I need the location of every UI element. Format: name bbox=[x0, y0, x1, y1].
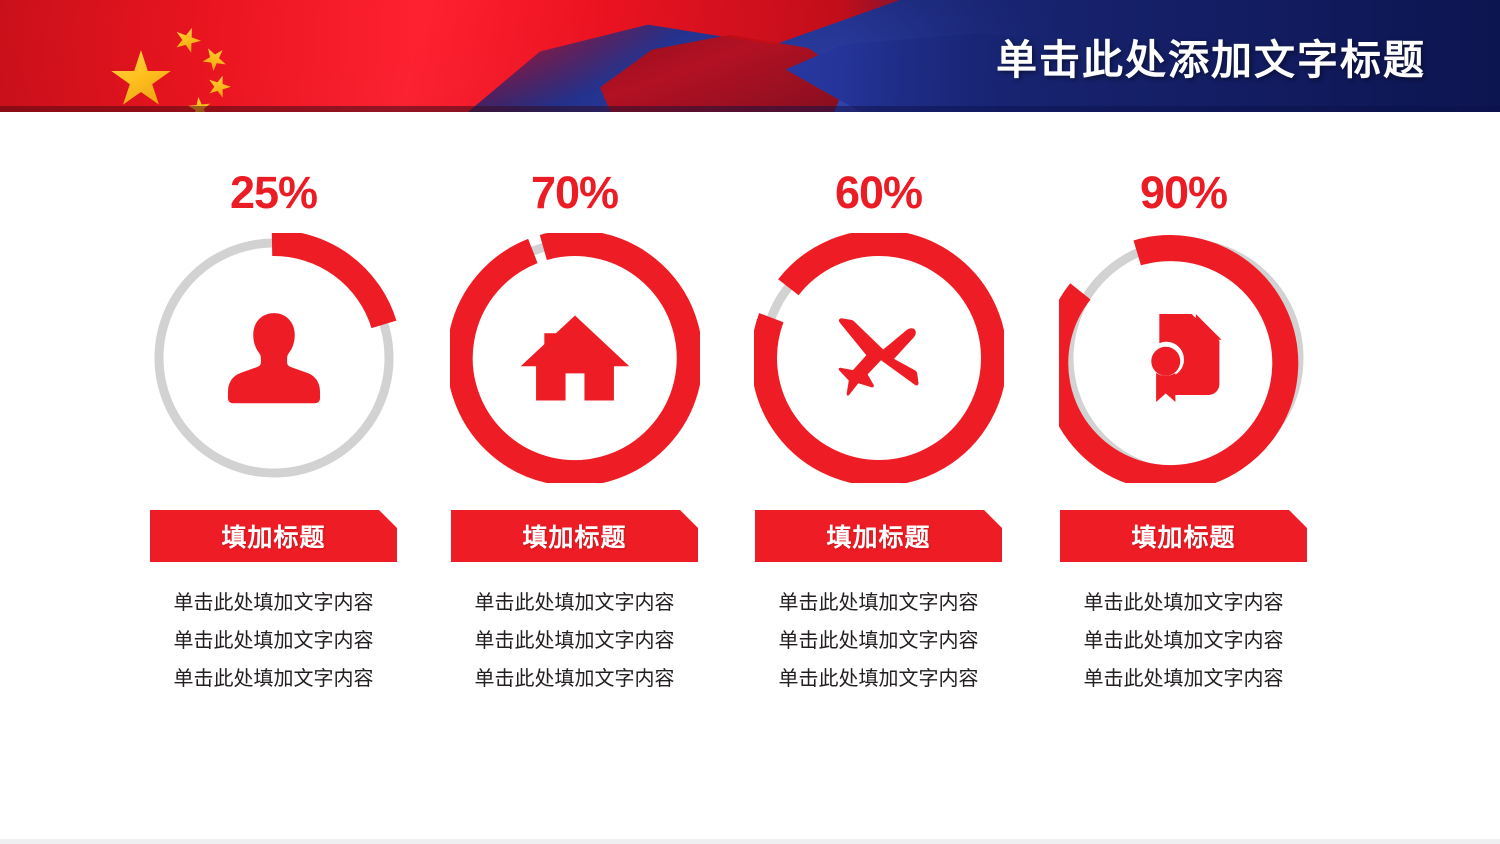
percent-label-3: 60% bbox=[835, 170, 922, 215]
slide-header: 单击此处添加文字标题 bbox=[0, 0, 1500, 112]
banner-label-2: 填加标题 bbox=[522, 518, 626, 554]
description-list-3: 单击此处填加文字内容 单击此处填加文字内容 单击此处填加文字内容 bbox=[779, 593, 979, 689]
progress-ring-4 bbox=[1059, 233, 1309, 483]
banner-label-1: 填加标题 bbox=[221, 518, 325, 554]
banner-label-3: 填加标题 bbox=[826, 518, 930, 554]
footer-wood-streaks bbox=[0, 802, 1500, 844]
stat-card-row: 25% 填加标题 单击此处填加文字内容 单 bbox=[0, 112, 1500, 752]
description-line: 单击此处填加文字内容 bbox=[779, 669, 979, 689]
description-line: 单击此处填加文字内容 bbox=[1084, 669, 1284, 689]
stat-card-1[interactable]: 25% 填加标题 单击此处填加文字内容 单 bbox=[121, 112, 426, 752]
description-list-2: 单击此处填加文字内容 单击此处填加文字内容 单击此处填加文字内容 bbox=[475, 593, 675, 689]
description-line: 单击此处填加文字内容 bbox=[1084, 631, 1284, 651]
slide: 单击此处添加文字标题 25% 填加标题 bbox=[0, 0, 1500, 844]
page-title: 单击此处添加文字标题 bbox=[996, 26, 1426, 86]
percent-label-1: 25% bbox=[230, 170, 317, 215]
progress-ring-3 bbox=[754, 233, 1004, 483]
banner-label-4: 填加标题 bbox=[1131, 518, 1235, 554]
stat-card-4[interactable]: 90% 填加标题 bbox=[1031, 112, 1336, 752]
description-line: 单击此处填加文字内容 bbox=[475, 593, 675, 613]
progress-ring-1 bbox=[149, 233, 399, 483]
description-line: 单击此处填加文字内容 bbox=[779, 631, 979, 651]
description-line: 单击此处填加文字内容 bbox=[174, 669, 374, 689]
ring-progress-2 bbox=[450, 233, 700, 483]
percent-label-2: 70% bbox=[531, 170, 618, 215]
ring-progress-3 bbox=[754, 233, 1004, 483]
banner-3[interactable]: 填加标题 bbox=[755, 510, 1002, 562]
description-line: 单击此处填加文字内容 bbox=[174, 593, 374, 613]
description-line: 单击此处填加文字内容 bbox=[779, 593, 979, 613]
progress-ring-2 bbox=[450, 233, 700, 483]
percent-label-4: 90% bbox=[1140, 170, 1227, 215]
banner-1[interactable]: 填加标题 bbox=[150, 510, 397, 562]
stat-card-2[interactable]: 70% 填加标题 单击此处填加文字内容 单 bbox=[422, 112, 727, 752]
description-list-1: 单击此处填加文字内容 单击此处填加文字内容 单击此处填加文字内容 bbox=[174, 593, 374, 689]
banner-2[interactable]: 填加标题 bbox=[451, 510, 698, 562]
stat-card-3[interactable]: 60% 填加标题 单击此处填加文字内容 单击此处填加文字内容 bbox=[726, 112, 1031, 752]
description-list-4: 单击此处填加文字内容 单击此处填加文字内容 单击此处填加文字内容 bbox=[1084, 593, 1284, 689]
description-line: 单击此处填加文字内容 bbox=[475, 669, 675, 689]
description-line: 单击此处填加文字内容 bbox=[475, 631, 675, 651]
ring-progress-1 bbox=[271, 233, 397, 324]
footer-bottom-strip bbox=[0, 839, 1500, 844]
banner-4[interactable]: 填加标题 bbox=[1060, 510, 1307, 562]
description-line: 单击此处填加文字内容 bbox=[1084, 593, 1284, 613]
description-line: 单击此处填加文字内容 bbox=[174, 631, 374, 651]
ring-progress-4 bbox=[1059, 233, 1309, 483]
slide-footer bbox=[0, 798, 1500, 844]
